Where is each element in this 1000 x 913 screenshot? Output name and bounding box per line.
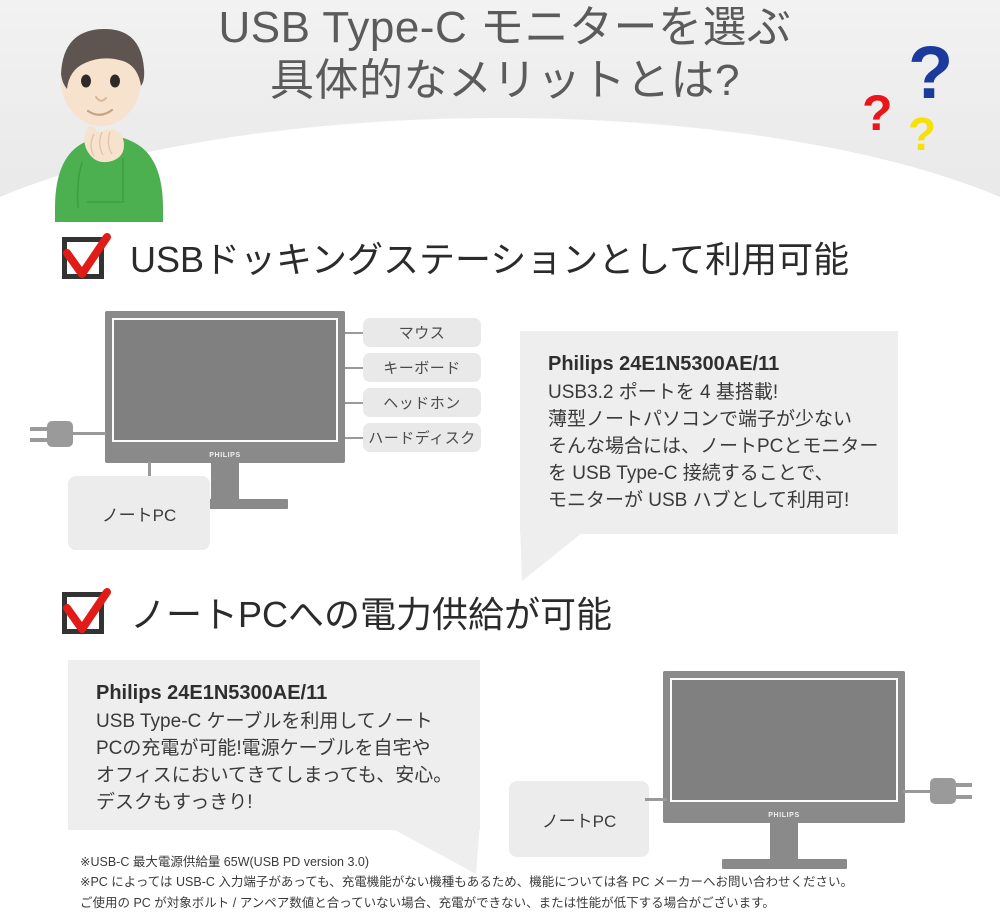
- checkbox-checked-icon-1: [58, 233, 108, 281]
- bubble-1-line-3: そんな場合には、ノートPCとモニター: [548, 434, 872, 461]
- bubble-1-line-5: モニターが USB ハブとして利用可!: [548, 488, 872, 515]
- section-2-heading: ノートPCへの電力供給が可能: [58, 586, 612, 638]
- footnote-2: ※PC によっては USB-C 入力端子があっても、充電機能がない機種もあるため…: [80, 872, 960, 892]
- monitor-logo-1: PHILIPS: [105, 452, 345, 459]
- port-label-headphone: ヘッドホン: [363, 388, 481, 417]
- bubble-1-body: USB3.2 ポートを 4 基搭載! 薄型ノートパソコンで端子が少ない そんな場…: [548, 380, 872, 515]
- bubble-1-line-2: 薄型ノートパソコンで端子が少ない: [548, 407, 872, 434]
- port-label-headphone-text: ヘッドホン: [383, 392, 461, 413]
- monitor-logo-2: PHILIPS: [663, 812, 905, 819]
- speech-bubble-1: Philips 24E1N5300AE/11 USB3.2 ポートを 4 基搭載…: [520, 331, 898, 534]
- bubble-1-line-1: USB3.2 ポートを 4 基搭載!: [548, 380, 872, 407]
- port-label-mouse: マウス: [363, 318, 481, 347]
- section-1-heading: USBドッキングステーションとして利用可能: [58, 231, 849, 283]
- bubble-2-body: USB Type-C ケーブルを利用してノート PCの充電が可能!電源ケーブルを…: [96, 709, 454, 817]
- laptop-cable-2: [645, 798, 667, 801]
- laptop-box-1: ノートPC: [68, 476, 210, 550]
- bubble-2-line-4: デスクもすっきり!: [96, 790, 454, 817]
- connector-line-4: [345, 437, 363, 439]
- speech-bubble-1-tail: [520, 525, 630, 585]
- question-mark-blue: ?: [908, 31, 953, 114]
- question-mark-red: ?: [862, 85, 893, 141]
- port-label-keyboard-text: キーボード: [383, 357, 461, 378]
- port-label-harddisk-text: ハードディスク: [368, 427, 475, 448]
- connector-line-3: [345, 402, 363, 404]
- bubble-2-line-3: オフィスにおいてきてしまっても、安心。: [96, 763, 454, 790]
- question-mark-yellow: ?: [908, 108, 936, 158]
- footnote-3: ご使用の PC が対象ボルト / アンペア数値と合っていない場合、充電ができない…: [80, 893, 960, 913]
- section-1-title: USBドッキングステーションとして利用可能: [130, 231, 849, 283]
- page-title-line2: 具体的なメリットとは?: [110, 55, 900, 108]
- section-2-title: ノートPCへの電力供給が可能: [130, 586, 612, 638]
- port-label-harddisk: ハードディスク: [363, 423, 481, 452]
- bubble-2-title: Philips 24E1N5300AE/11: [96, 682, 454, 705]
- bubble-1-line-4: を USB Type-C 接続することで、: [548, 461, 872, 488]
- laptop-label-1: ノートPC: [102, 501, 177, 526]
- footnote-1: ※USB-C 最大電源供給量 65W(USB PD version 3.0): [80, 852, 960, 872]
- checkbox-checked-icon-2: [58, 588, 108, 636]
- thinking-person-illustration: [22, 12, 172, 222]
- port-label-mouse-text: マウス: [399, 322, 446, 343]
- monitor-diagram-2: PHILIPS: [663, 671, 905, 871]
- question-marks-decoration: ? ? ?: [850, 18, 990, 158]
- footnotes: ※USB-C 最大電源供給量 65W(USB PD version 3.0) ※…: [80, 852, 960, 913]
- page-title-line1: USB Type-C モニターを選ぶ: [219, 3, 792, 52]
- port-label-keyboard: キーボード: [363, 353, 481, 382]
- laptop-label-2: ノートPC: [542, 807, 617, 832]
- bubble-2-line-1: USB Type-C ケーブルを利用してノート: [96, 709, 454, 736]
- laptop-box-2: ノートPC: [509, 781, 649, 857]
- connector-line-1: [345, 332, 363, 334]
- bubble-1-title: Philips 24E1N5300AE/11: [548, 353, 872, 376]
- page-title: USB Type-C モニターを選ぶ 具体的なメリットとは?: [110, 2, 900, 108]
- connector-line-2: [345, 367, 363, 369]
- speech-bubble-2: Philips 24E1N5300AE/11 USB Type-C ケーブルを利…: [68, 660, 480, 830]
- bubble-2-line-2: PCの充電が可能!電源ケーブルを自宅や: [96, 736, 454, 763]
